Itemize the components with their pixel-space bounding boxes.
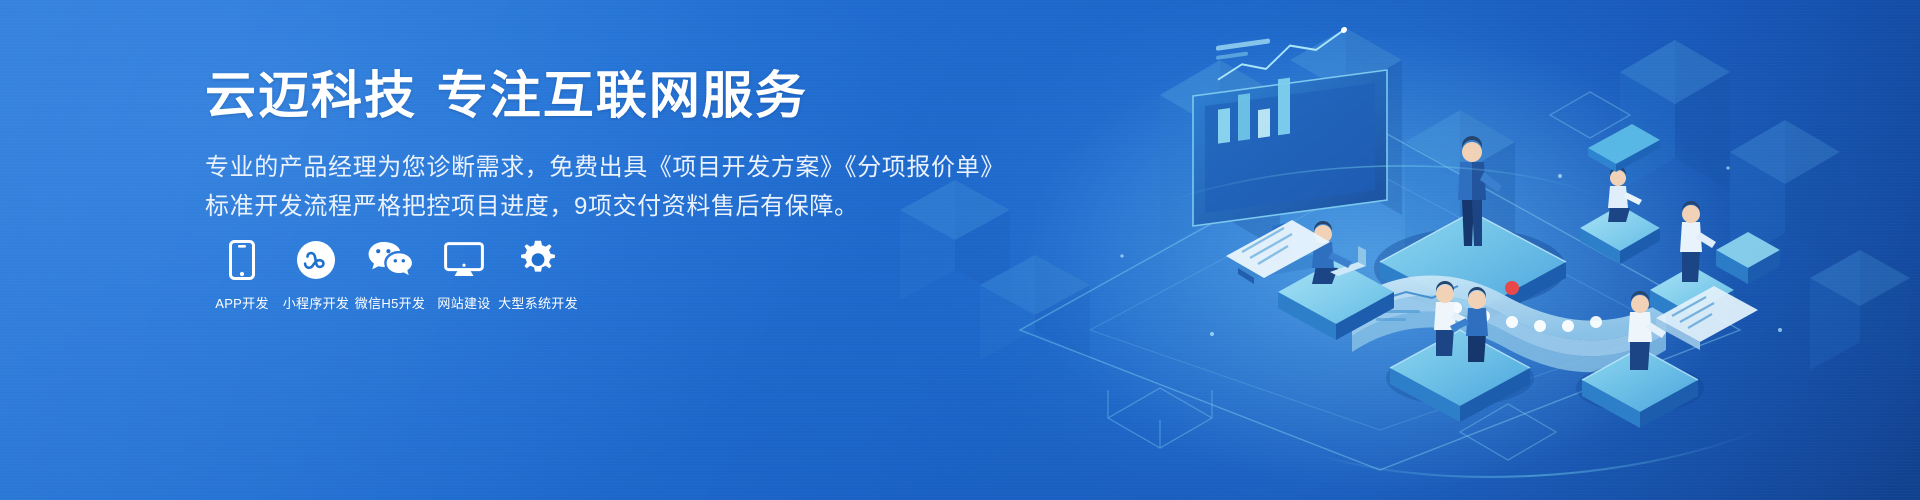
service-item-system[interactable]: 大型系统开发 (501, 238, 575, 312)
mobile-phone-icon (229, 238, 255, 282)
monitor-icon (444, 238, 484, 282)
banner-subtitle: 专业的产品经理为您诊断需求，免费出具《项目开发方案》《分项报价单》 标准开发流程… (205, 149, 1105, 227)
service-label-miniprogram: 小程序开发 (283, 293, 350, 312)
service-item-miniprogram[interactable]: 小程序开发 (279, 238, 353, 312)
mini-program-icon (296, 238, 336, 282)
wechat-icon (368, 238, 412, 282)
hero-banner: 云迈科技 专注互联网服务 专业的产品经理为您诊断需求，免费出具《项目开发方案》《… (0, 0, 1920, 500)
page-title: 云迈科技 专注互联网服务 (205, 68, 1105, 127)
service-item-wechat[interactable]: 微信H5开发 (353, 238, 427, 312)
banner-copy: 云迈科技 专注互联网服务 专业的产品经理为您诊断需求，免费出具《项目开发方案》《… (205, 68, 1105, 226)
service-label-app: APP开发 (215, 293, 269, 312)
service-icon-row: APP开发 小程序开发 (205, 238, 575, 312)
service-item-website[interactable]: 网站建设 (427, 238, 501, 312)
subtitle-line-2: 标准开发流程严格把控项目进度，9项交付资料售后有保障。 (205, 188, 1105, 227)
service-label-website: 网站建设 (437, 293, 490, 312)
service-label-wechat: 微信H5开发 (355, 293, 425, 312)
service-item-app[interactable]: APP开发 (205, 238, 279, 312)
subtitle-line-1: 专业的产品经理为您诊断需求，免费出具《项目开发方案》《分项报价单》 (205, 149, 1105, 188)
gear-icon (518, 238, 558, 282)
service-label-system: 大型系统开发 (498, 293, 578, 312)
